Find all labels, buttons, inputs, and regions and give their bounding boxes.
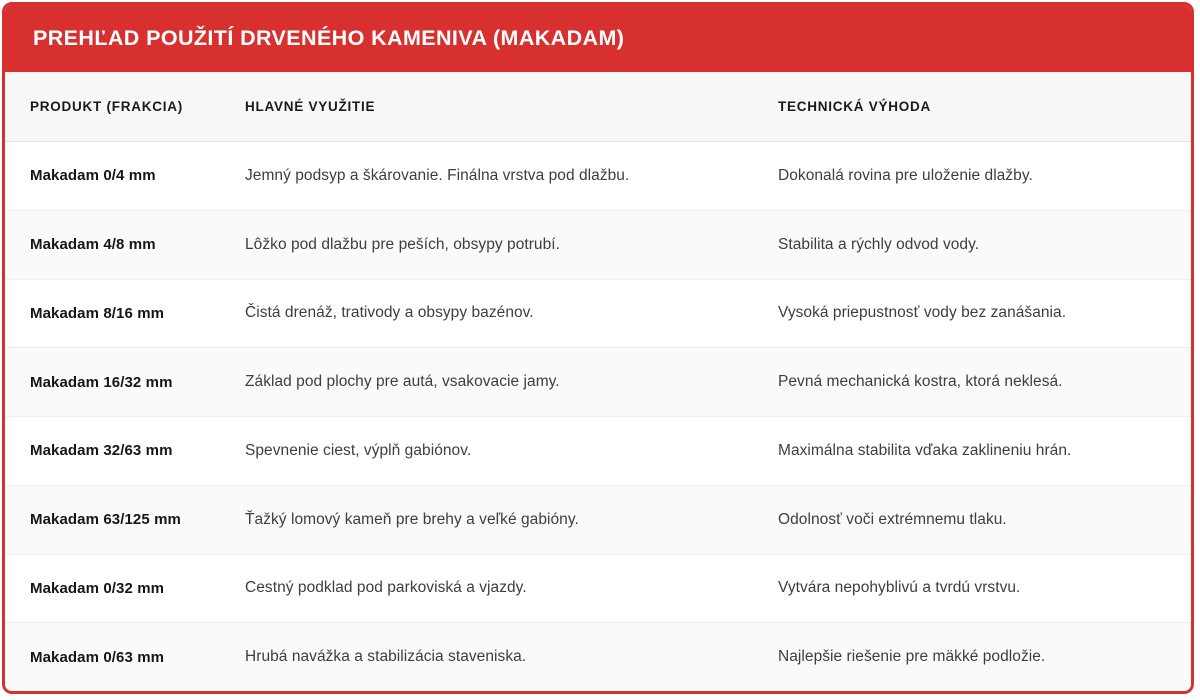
- cell-product: Makadam 4/8 mm: [5, 236, 245, 253]
- cell-advantage: Odolnosť voči extrémnemu tlaku.: [778, 511, 1191, 529]
- cell-product: Makadam 0/4 mm: [5, 167, 245, 184]
- cell-advantage: Maximálna stabilita vďaka zaklineniu hrá…: [778, 442, 1191, 460]
- cell-product: Makadam 63/125 mm: [5, 511, 245, 528]
- table-row: Makadam 8/16 mm Čistá drenáž, trativody …: [5, 280, 1191, 349]
- cell-advantage: Dokonalá rovina pre uloženie dlažby.: [778, 167, 1191, 185]
- table-row: Makadam 0/63 mm Hrubá navážka a stabiliz…: [5, 623, 1191, 691]
- cell-product: Makadam 0/63 mm: [5, 649, 245, 666]
- table-row: Makadam 32/63 mm Spevnenie ciest, výplň …: [5, 417, 1191, 486]
- column-header-usage: HLAVNÉ VYUŽITIE: [245, 99, 778, 114]
- cell-product: Makadam 16/32 mm: [5, 374, 245, 391]
- makadam-overview-table-card: PREHĽAD POUŽITÍ DRVENÉHO KAMENIVA (MAKAD…: [2, 2, 1194, 694]
- cell-product: Makadam 32/63 mm: [5, 442, 245, 459]
- column-header-product: PRODUKT (FRAKCIA): [5, 99, 245, 114]
- table-row: Makadam 0/32 mm Cestný podklad pod parko…: [5, 555, 1191, 624]
- cell-product: Makadam 8/16 mm: [5, 305, 245, 322]
- cell-advantage: Najlepšie riešenie pre mäkké podložie.: [778, 648, 1191, 666]
- cell-product: Makadam 0/32 mm: [5, 580, 245, 597]
- table-column-header-row: PRODUKT (FRAKCIA) HLAVNÉ VYUŽITIE TECHNI…: [5, 72, 1191, 142]
- page-title: PREHĽAD POUŽITÍ DRVENÉHO KAMENIVA (MAKAD…: [33, 27, 624, 51]
- cell-usage: Jemný podsyp a škárovanie. Finálna vrstv…: [245, 167, 778, 185]
- cell-usage: Základ pod plochy pre autá, vsakovacie j…: [245, 373, 778, 391]
- table-body: Makadam 0/4 mm Jemný podsyp a škárovanie…: [5, 142, 1191, 691]
- table-row: Makadam 16/32 mm Základ pod plochy pre a…: [5, 348, 1191, 417]
- cell-usage: Ťažký lomový kameň pre brehy a veľké gab…: [245, 511, 778, 529]
- cell-usage: Cestný podklad pod parkoviská a vjazdy.: [245, 579, 778, 597]
- column-header-advantage: TECHNICKÁ VÝHODA: [778, 99, 1191, 114]
- cell-usage: Čistá drenáž, trativody a obsypy bazénov…: [245, 304, 778, 322]
- cell-advantage: Vysoká priepustnosť vody bez zanášania.: [778, 304, 1191, 322]
- cell-advantage: Stabilita a rýchly odvod vody.: [778, 236, 1191, 254]
- cell-advantage: Pevná mechanická kostra, ktorá neklesá.: [778, 373, 1191, 391]
- table-row: Makadam 63/125 mm Ťažký lomový kameň pre…: [5, 486, 1191, 555]
- table-row: Makadam 4/8 mm Lôžko pod dlažbu pre peší…: [5, 211, 1191, 280]
- cell-usage: Lôžko pod dlažbu pre peších, obsypy potr…: [245, 236, 778, 254]
- cell-usage: Spevnenie ciest, výplň gabiónov.: [245, 442, 778, 460]
- cell-usage: Hrubá navážka a stabilizácia staveniska.: [245, 648, 778, 666]
- cell-advantage: Vytvára nepohyblivú a tvrdú vrstvu.: [778, 579, 1191, 597]
- table-row: Makadam 0/4 mm Jemný podsyp a škárovanie…: [5, 142, 1191, 211]
- table-title-band: PREHĽAD POUŽITÍ DRVENÉHO KAMENIVA (MAKAD…: [5, 5, 1191, 72]
